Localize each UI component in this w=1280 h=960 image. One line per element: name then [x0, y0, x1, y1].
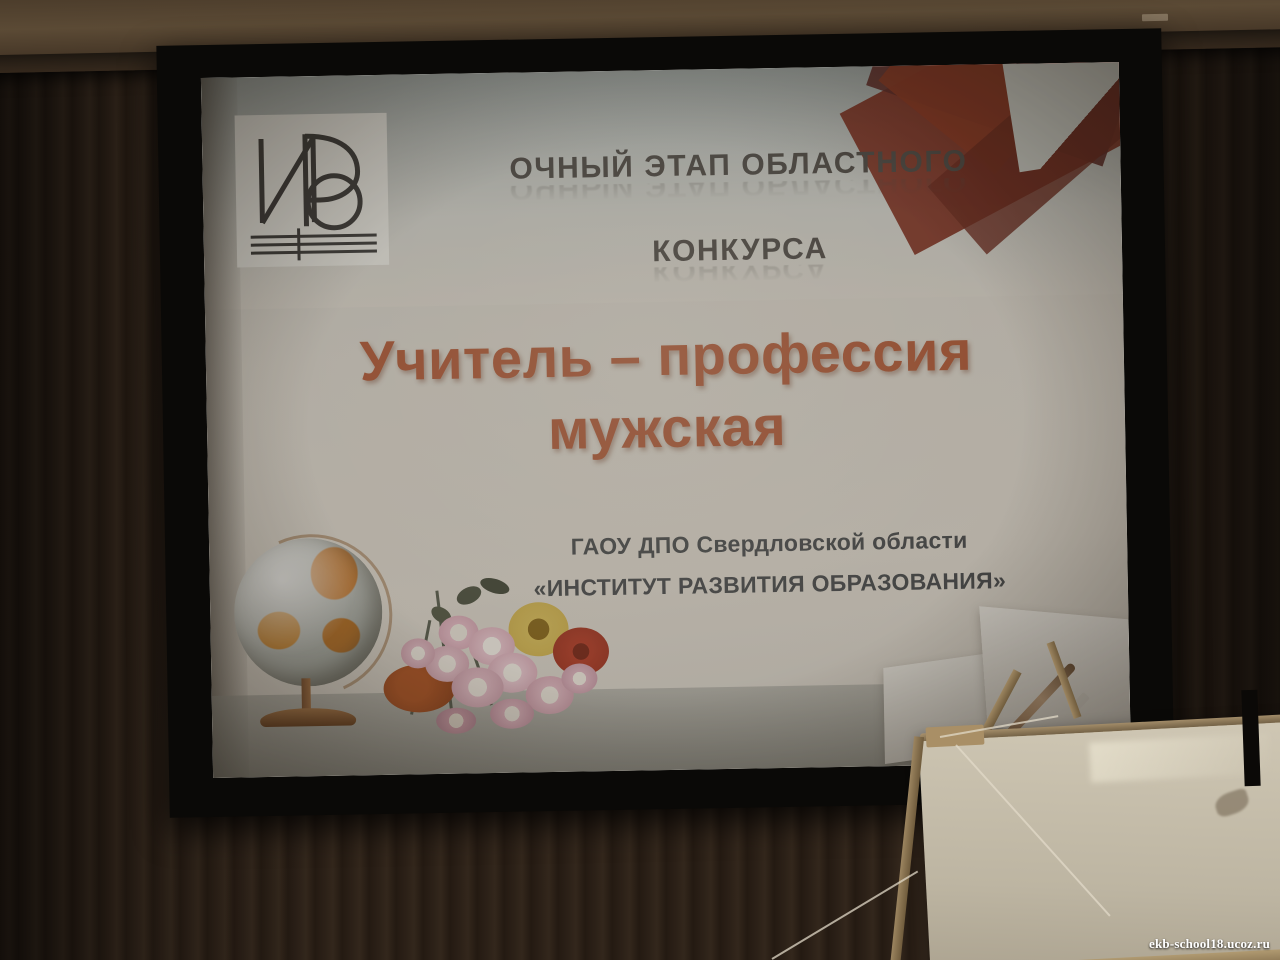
presentation-slide: ОЧНЫЙ ЭТАП ОБЛАСТНОГО ОЧНЫЙ ЭТАП ОБЛАСТН… — [201, 62, 1131, 778]
flower-bouquet-icon — [337, 520, 671, 756]
wall-dark-gap — [1241, 690, 1260, 786]
slide-header-text: ОЧНЫЙ ЭТАП ОБЛАСТНОГО ОЧНЫЙ ЭТАП ОБЛАСТН… — [388, 145, 1090, 290]
slide-title: Учитель – профессия мужская — [265, 313, 1067, 470]
easel-leg-front — [886, 736, 924, 960]
room-scene: ОЧНЫЙ ЭТАП ОБЛАСТНОГО ОЧНЫЙ ЭТАП ОБЛАСТН… — [0, 0, 1280, 960]
projection-screen-surface: ОЧНЫЙ ЭТАП ОБЛАСТНОГО ОЧНЫЙ ЭТАП ОБЛАСТН… — [201, 62, 1131, 778]
title-line-1: Учитель – профессия — [265, 313, 1066, 399]
valance-label-tag — [1142, 14, 1168, 21]
title-line-2: мужская — [267, 385, 1068, 471]
iro-logo-icon — [235, 113, 390, 268]
site-watermark: ekb-school18.ucoz.ru — [1149, 936, 1270, 952]
flip-chart-easel — [760, 700, 1280, 960]
